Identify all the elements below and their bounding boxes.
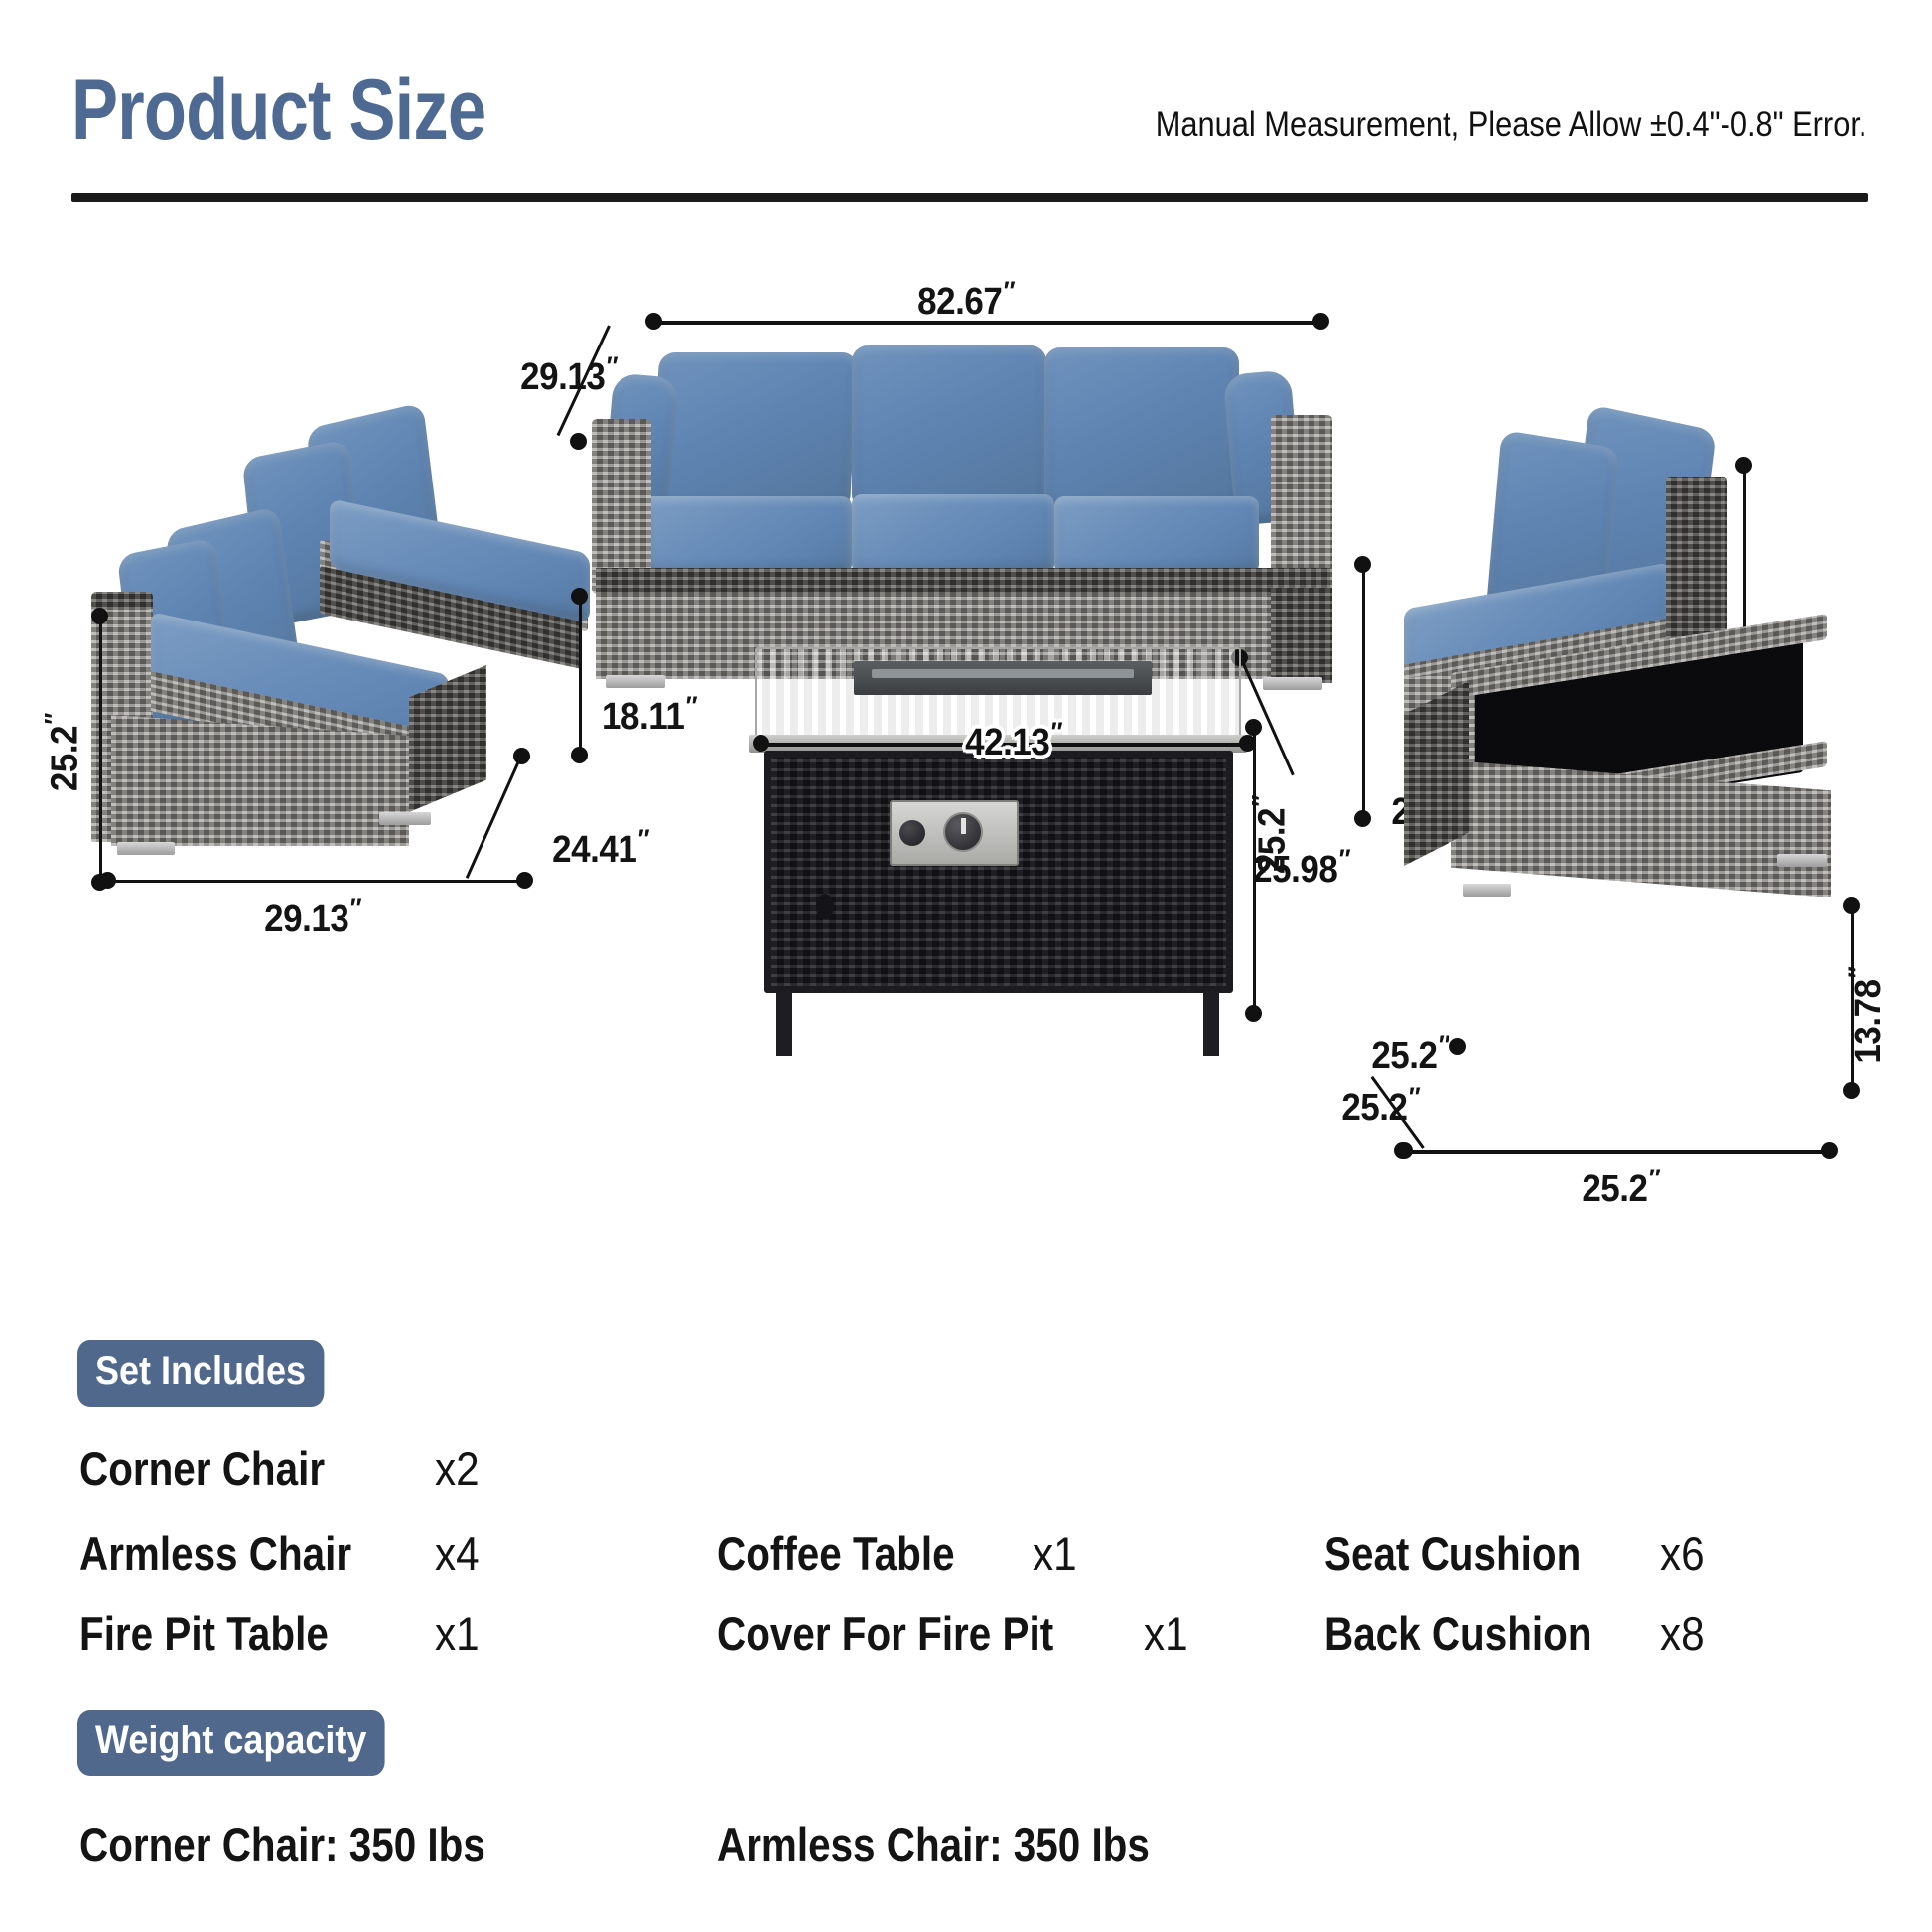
set-item-label-0: Corner Chair [79, 1442, 325, 1496]
set-item-qty-5: x6 [1660, 1526, 1705, 1581]
set-item-label-4: Cover For Fire Pit [717, 1606, 1053, 1661]
dimension-label-coffee-width: 25.2″ [1582, 1164, 1657, 1211]
set-item-qty-3: x1 [1033, 1526, 1077, 1581]
page-title: Product Size [71, 68, 485, 153]
dimension-line-left-width [107, 880, 524, 883]
dimension-label-left-depth: 24.41″ [552, 824, 646, 872]
set-item-label-6: Back Cushion [1324, 1606, 1592, 1661]
dimension-label-sofa-depth: 29.13″ [520, 351, 615, 399]
set-item-qty-0: x2 [435, 1442, 480, 1496]
product-diagram: 25.2″ 29.13″ 24.41″ 18.11″ [0, 199, 1932, 1291]
measurement-note: Manual Measurement, Please Allow ±0.4"-0… [1155, 105, 1866, 145]
weight-capacity-corner-chair: Corner Chair: 350 Ibs [79, 1817, 485, 1871]
dimension-label-firepit-width: 42.13″ [965, 717, 1059, 764]
product-size-infographic: Product Size Manual Measurement, Please … [0, 0, 1932, 1932]
set-item-qty-2: x1 [435, 1606, 480, 1661]
dimension-line-left-seat-height [579, 596, 582, 755]
set-item-label-3: Coffee Table [717, 1526, 955, 1581]
dimension-label-coffee-depth: 25.2″ [1341, 1082, 1417, 1130]
dimension-line-coffee-width [1404, 1150, 1829, 1154]
dimension-line-sofa-height [1362, 564, 1365, 818]
dimension-label-coffee-height: 13.78″ [1843, 969, 1890, 1063]
dimension-label-left-height: 25.2″ [39, 716, 86, 791]
dimension-label-left-seat-height: 18.11″ [602, 691, 694, 739]
set-item-label-1: Armless Chair [79, 1526, 351, 1581]
dimension-label-sofa-width: 82.67″ [917, 276, 1012, 324]
header: Product Size Manual Measurement, Please … [71, 44, 1868, 193]
set-item-qty-1: x4 [435, 1526, 480, 1581]
set-item-label-5: Seat Cushion [1324, 1526, 1581, 1581]
set-includes-badge: Set Includes [77, 1340, 324, 1407]
weight-capacity-badge: Weight capacity [77, 1710, 384, 1776]
dimension-line-left-height [99, 616, 102, 882]
set-item-label-2: Fire Pit Table [79, 1606, 329, 1661]
dimension-label-left-width: 29.13″ [264, 894, 358, 941]
set-item-qty-4: x1 [1144, 1606, 1188, 1661]
dimension-label-right-chair-height: 25.2″ [1371, 1031, 1447, 1078]
dimension-label-firepit-height: 25.2″ [1246, 798, 1294, 874]
weight-capacity-armless-chair: Armless Chair: 350 Ibs [717, 1817, 1150, 1871]
set-item-qty-6: x8 [1660, 1606, 1705, 1661]
